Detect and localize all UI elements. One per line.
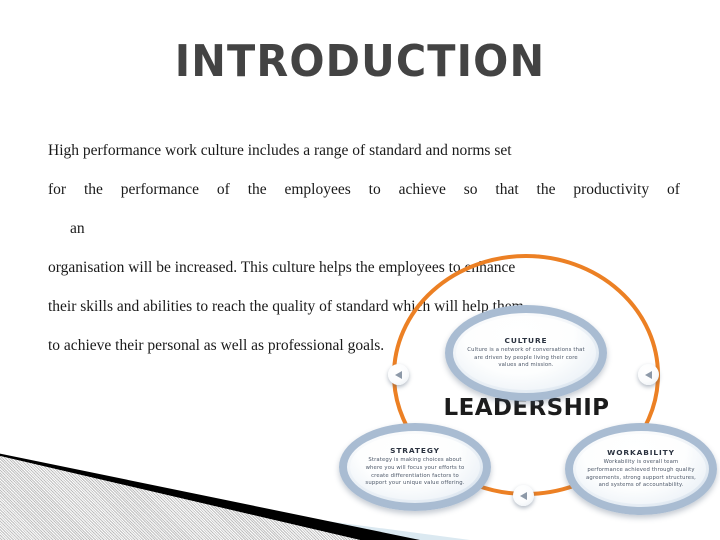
bubble-title: STRATEGY — [390, 446, 440, 455]
arrow-node-left-icon — [388, 364, 409, 385]
triangle-left-icon — [520, 492, 527, 500]
presentation-slide: INTRODUCTION High performance work cultu… — [0, 0, 720, 540]
body-word: employees — [284, 170, 350, 209]
body-line-3: an — [48, 209, 680, 248]
body-word: the — [537, 170, 556, 209]
body-word: for — [48, 170, 66, 209]
bubble-description: Strategy is making choices about where y… — [360, 457, 470, 487]
diagram-bubble-culture: CULTURE Culture is a network of conversa… — [445, 305, 607, 401]
bubble-content: CULTURE Culture is a network of conversa… — [456, 316, 596, 390]
body-word: the — [248, 170, 267, 209]
body-word: performance — [121, 170, 199, 209]
diagram-canvas: LEADERSHIP CULTURE Culture is a network … — [333, 305, 720, 510]
body-word: the — [84, 170, 103, 209]
bubble-title: CULTURE — [505, 336, 548, 345]
leadership-cycle-diagram: LEADERSHIP CULTURE Culture is a network … — [333, 305, 720, 510]
diagram-bubble-workability: WORKABILITY Workability is overall team … — [565, 423, 717, 515]
body-word: achieve — [399, 170, 446, 209]
bubble-content: WORKABILITY Workability is overall team … — [576, 434, 706, 504]
body-word: so — [464, 170, 478, 209]
bubble-title: WORKABILITY — [607, 448, 675, 457]
body-word: productivity — [573, 170, 649, 209]
arrow-node-bottom-icon — [513, 485, 534, 506]
triangle-left-icon — [395, 371, 402, 379]
triangle-left-icon — [645, 371, 652, 379]
arrow-node-right-icon — [638, 364, 659, 385]
body-word: to — [369, 170, 381, 209]
bubble-content: STRATEGY Strategy is making choices abou… — [350, 434, 480, 500]
body-word: of — [217, 170, 230, 209]
body-line-1: High performance work culture includes a… — [48, 131, 680, 170]
body-word: that — [495, 170, 518, 209]
page-title: INTRODUCTION — [22, 39, 699, 85]
bubble-description: Culture is a network of conversations th… — [466, 347, 586, 370]
body-line-2: for the performance of the employees to … — [48, 170, 680, 209]
diagram-bubble-strategy: STRATEGY Strategy is making choices abou… — [339, 423, 491, 511]
body-word: of — [667, 170, 680, 209]
decoration-texture-wedge — [0, 420, 360, 540]
bubble-description: Workability is overall team performance … — [586, 459, 696, 489]
